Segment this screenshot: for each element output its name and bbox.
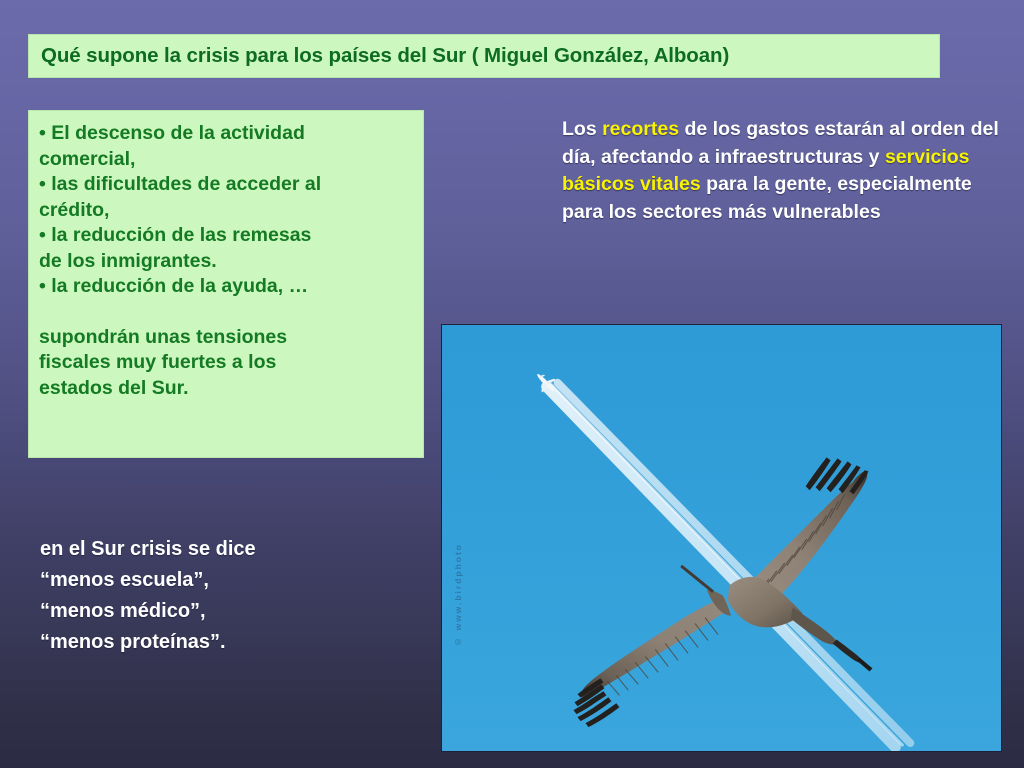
left-wing-primaries [574,678,620,727]
bullet-line: • la reducción de la ayuda, … [39,274,415,300]
bullet-line: comercial, [39,147,415,173]
bullet-line: crédito, [39,198,415,224]
bird-body [728,577,803,627]
left-wing-feathers [607,618,718,696]
page-title: Qué supone la crisis para los países del… [29,44,729,68]
right-text-highlight-recortes: recortes [602,118,679,140]
left-content-box: • El descenso de la actividad comercial,… [28,110,424,458]
bottom-line: en el Sur crisis se dice [40,534,430,565]
bullet-line: • las dificultades de acceder al [39,172,415,198]
contrail [547,383,911,747]
right-text-part-1: Los [562,118,602,140]
bird-photo-illustration [442,325,1001,751]
bird-photo: © www.birdphoto [441,324,1002,752]
flying-crane [574,457,873,727]
bird-legs [681,566,713,592]
conclusion-line: supondrán unas tensiones [39,325,415,351]
bottom-line: “menos escuela”, [40,565,430,596]
bird-beak [857,657,873,671]
slide-title-box: Qué supone la crisis para los países del… [28,34,940,78]
bullet-line: • la reducción de las remesas [39,223,415,249]
bird-head [833,640,862,663]
bullet-line: • El descenso de la actividad [39,121,415,147]
bottom-paragraph: en el Sur crisis se dice “menos escuela”… [40,534,430,658]
bullet-line: de los inmigrantes. [39,249,415,275]
conclusion-line: estados del Sur. [39,376,415,402]
bottom-line: “menos médico”, [40,596,430,627]
bottom-line: “menos proteínas”. [40,627,430,658]
conclusion-line: fiscales muy fuertes a los [39,350,415,376]
slide-canvas: Qué supone la crisis para los países del… [0,0,1024,768]
paragraph-spacer [39,300,415,325]
right-paragraph: Los recortes de los gastos estarán al or… [562,116,1002,226]
photo-watermark: © www.birdphoto [453,543,463,647]
